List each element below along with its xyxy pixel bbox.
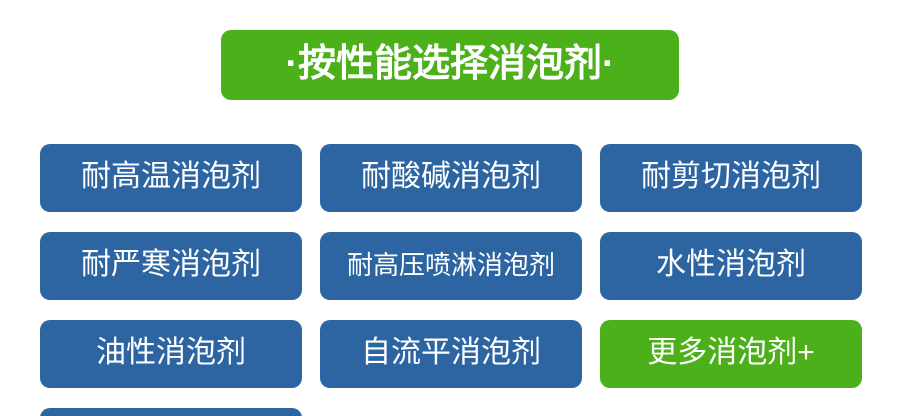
category-button-cold-resistant[interactable]: 耐严寒消泡剂 bbox=[40, 232, 302, 300]
category-button-label: 水性消泡剂 bbox=[656, 250, 806, 280]
category-button-high-pressure-spray-resistant[interactable]: 耐高压喷淋消泡剂 bbox=[320, 232, 582, 300]
category-button-label: 油性消泡剂 bbox=[96, 338, 246, 368]
page-title: ·按性能选择消泡剂· bbox=[285, 45, 614, 83]
category-button-label: 耐严寒消泡剂 bbox=[81, 250, 261, 280]
page-root: ·按性能选择消泡剂· 耐高温消泡剂 耐酸碱消泡剂 耐剪切消泡剂 耐严寒消泡剂 耐… bbox=[0, 0, 900, 416]
category-button-heat-resistant[interactable]: 耐高温消泡剂 bbox=[40, 144, 302, 212]
category-button-water-based[interactable]: 水性消泡剂 bbox=[600, 232, 862, 300]
category-button-label: 耐剪切消泡剂 bbox=[641, 162, 821, 192]
category-button-self-leveling[interactable]: 自流平消泡剂 bbox=[320, 320, 582, 388]
category-button-more[interactable]: 更多消泡剂+ bbox=[600, 320, 862, 388]
category-button-shear-resistant[interactable]: 耐剪切消泡剂 bbox=[600, 144, 862, 212]
category-button-label: 更多消泡剂+ bbox=[647, 338, 815, 368]
category-button-label: 耐酸碱消泡剂 bbox=[361, 162, 541, 192]
product-category-grid: 耐高温消泡剂 耐酸碱消泡剂 耐剪切消泡剂 耐严寒消泡剂 耐高压喷淋消泡剂 水性消… bbox=[40, 144, 862, 416]
category-button-label: 耐高温消泡剂 bbox=[81, 162, 261, 192]
header-banner: ·按性能选择消泡剂· bbox=[221, 30, 679, 100]
category-button-label: 耐高压喷淋消泡剂 bbox=[347, 252, 555, 278]
category-button-next-row-partial[interactable] bbox=[40, 408, 302, 416]
header-banner-container: ·按性能选择消泡剂· bbox=[0, 30, 900, 100]
category-button-acid-alkali-resistant[interactable]: 耐酸碱消泡剂 bbox=[320, 144, 582, 212]
category-button-label: 自流平消泡剂 bbox=[361, 338, 541, 368]
category-button-oil-based[interactable]: 油性消泡剂 bbox=[40, 320, 302, 388]
